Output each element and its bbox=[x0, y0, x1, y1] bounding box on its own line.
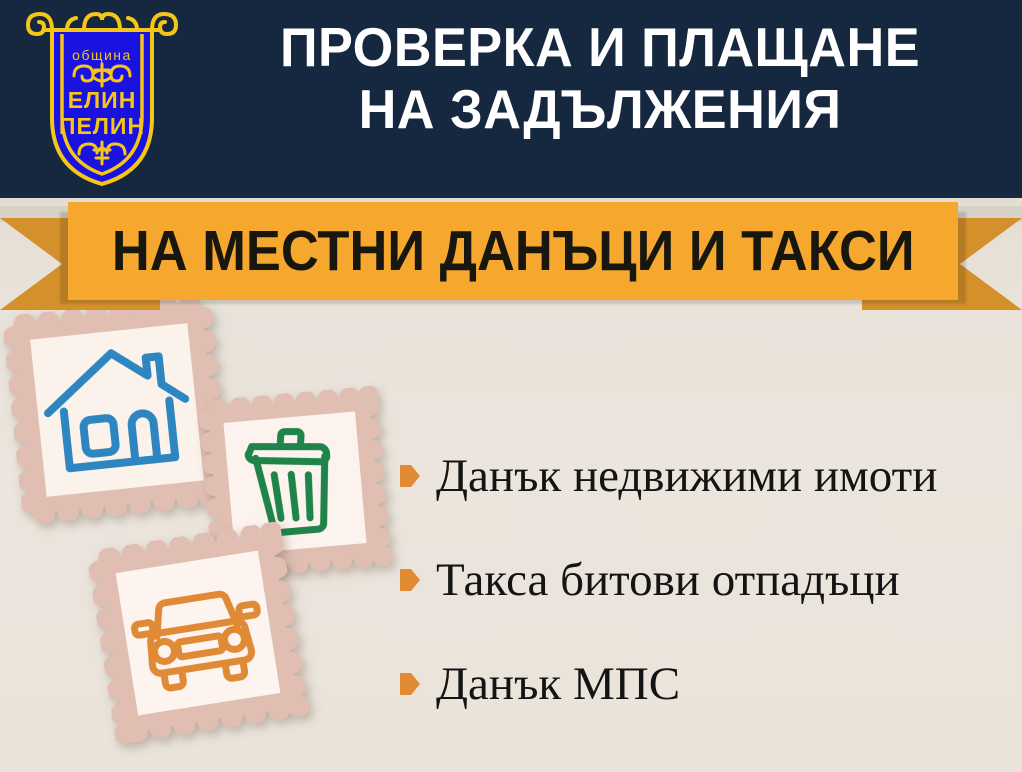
page-title: ПРОВЕРКА И ПЛАЩАНЕ НА ЗАДЪЛЖЕНИЯ bbox=[211, 16, 990, 140]
logo-line-top: община bbox=[72, 47, 132, 63]
bullet-arrow-icon bbox=[400, 465, 420, 487]
list-item-label: Данък недвижими имоти bbox=[436, 451, 937, 501]
list-item[interactable]: Данък недвижими имоти bbox=[400, 424, 1010, 528]
stamp-scallop-border bbox=[86, 521, 310, 745]
poster-canvas: Данък недвижими имоти Такса битови отпад… bbox=[0, 0, 1022, 772]
ribbon-label: НА МЕСТНИ ДАНЪЦИ И ТАКСИ bbox=[112, 222, 915, 280]
list-item-label: Такса битови отпадъци bbox=[436, 555, 900, 605]
list-item-label: Данък МПС bbox=[436, 659, 680, 709]
bullet-arrow-icon bbox=[400, 569, 420, 591]
car-stamp-svg bbox=[86, 521, 310, 745]
subtitle-ribbon: НА МЕСТНИ ДАНЪЦИ И ТАКСИ bbox=[0, 198, 1022, 310]
logo-line-middle: ЕЛИН bbox=[68, 87, 137, 113]
tax-type-list: Данък недвижими имоти Такса битови отпад… bbox=[400, 424, 1010, 736]
list-item[interactable]: Такса битови отпадъци bbox=[400, 528, 1010, 632]
municipality-logo: община ЕЛИН ПЕЛИН bbox=[22, 8, 182, 188]
logo-line-bottom: ПЕЛИН bbox=[59, 113, 145, 139]
stamp-car bbox=[86, 521, 310, 745]
coat-of-arms-svg: община ЕЛИН ПЕЛИН bbox=[22, 8, 182, 188]
list-item[interactable]: Данък МПС bbox=[400, 632, 1010, 736]
bullet-arrow-icon bbox=[400, 673, 420, 695]
ribbon-banner: НА МЕСТНИ ДАНЪЦИ И ТАКСИ bbox=[68, 202, 958, 300]
